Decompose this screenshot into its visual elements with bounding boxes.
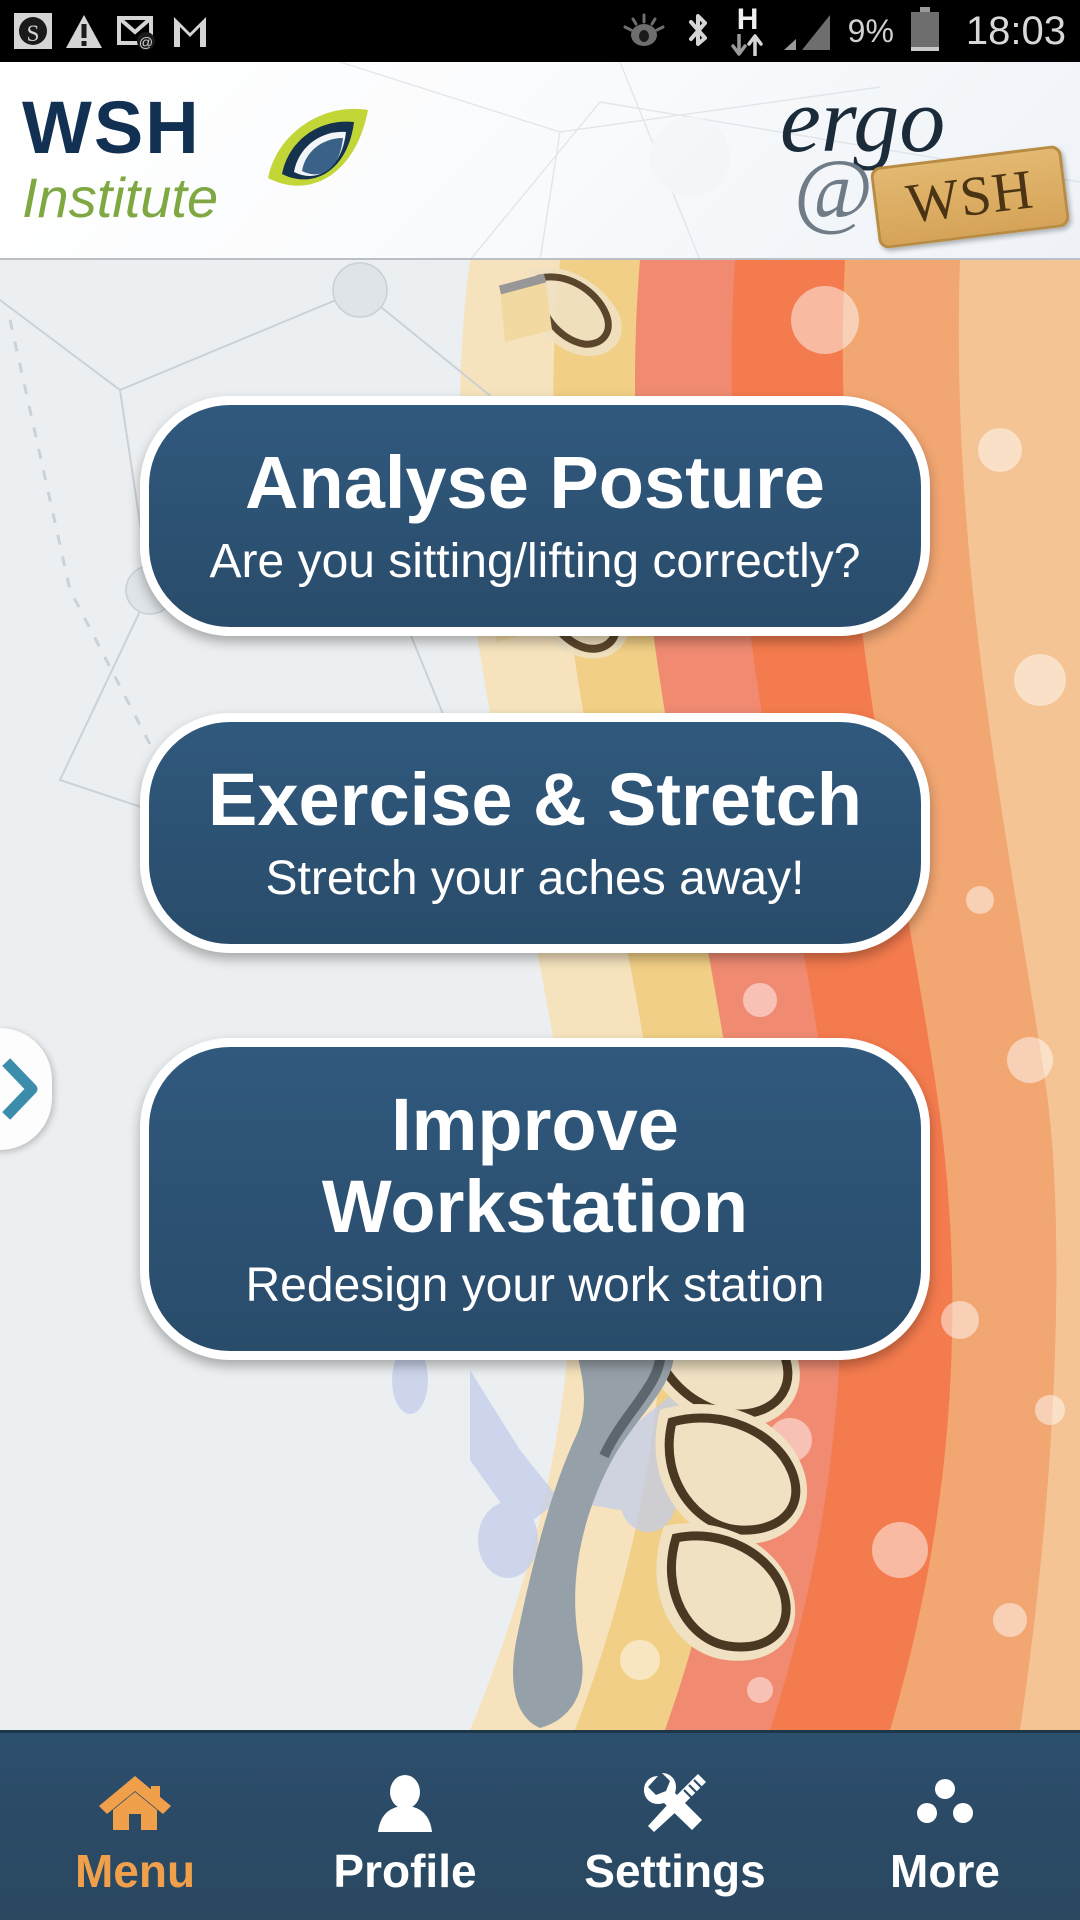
nav-label-profile: Profile xyxy=(333,1848,476,1894)
exercise-stretch-button[interactable]: Exercise & Stretch Stretch your aches aw… xyxy=(140,713,930,953)
exercise-stretch-title: Exercise & Stretch xyxy=(208,759,862,841)
three-dots-icon xyxy=(913,1772,977,1834)
tools-icon xyxy=(640,1772,710,1834)
email-at-icon: @ xyxy=(116,11,158,51)
status-bar-clock: 18:03 xyxy=(966,9,1066,54)
svg-text:@: @ xyxy=(139,34,153,50)
analyse-posture-title: Analyse Posture xyxy=(245,442,825,524)
chevron-right-icon xyxy=(0,1058,42,1120)
nav-label-more: More xyxy=(890,1848,1000,1894)
wsh-tag-text: WSH xyxy=(903,157,1037,236)
svg-text:S: S xyxy=(27,21,40,46)
network-type-label: H xyxy=(737,6,759,34)
app-screen: S @ xyxy=(0,0,1080,1920)
analyse-posture-subtitle: Are you sitting/lifting correctly? xyxy=(210,534,861,590)
hspa-data-icon: H xyxy=(728,6,768,56)
eye-smart-stay-icon xyxy=(620,11,668,51)
ergo-at-wsh-logo: ergo @ WSH xyxy=(756,72,1066,257)
battery-icon xyxy=(908,7,942,55)
nav-label-settings: Settings xyxy=(584,1848,765,1894)
nav-item-menu[interactable]: Menu xyxy=(0,1733,270,1920)
bluetooth-icon xyxy=(682,10,714,52)
nav-item-settings[interactable]: Settings xyxy=(540,1733,810,1920)
home-icon xyxy=(97,1772,173,1834)
person-icon xyxy=(374,1772,436,1834)
gmail-icon xyxy=(170,11,210,51)
improve-workstation-button[interactable]: Improve Workstation Redesign your work s… xyxy=(140,1038,930,1360)
data-arrows-icon xyxy=(728,34,768,56)
improve-workstation-title: Improve Workstation xyxy=(255,1084,815,1248)
improve-workstation-subtitle: Redesign your work station xyxy=(246,1258,825,1314)
warning-triangle-icon xyxy=(64,11,104,51)
at-symbol-icon: @ xyxy=(794,146,873,232)
nav-label-menu: Menu xyxy=(75,1848,195,1894)
status-bar: S @ xyxy=(0,0,1080,62)
wsh-shield-icon xyxy=(250,96,382,228)
battery-percent-label: 9% xyxy=(848,13,894,50)
bottom-navigation-bar: Menu Profile xyxy=(0,1730,1080,1920)
status-bar-system-icons: H 9% 18:03 xyxy=(620,6,1066,56)
status-bar-notification-icons: S @ xyxy=(14,11,210,51)
exercise-stretch-subtitle: Stretch your aches away! xyxy=(266,851,805,907)
nav-item-more[interactable]: More xyxy=(810,1733,1080,1920)
skype-icon: S xyxy=(14,11,52,51)
analyse-posture-button[interactable]: Analyse Posture Are you sitting/lifting … xyxy=(140,396,930,636)
signal-bars-icon xyxy=(782,9,834,53)
app-header: WSH Institute ergo @ WSH xyxy=(0,62,1080,260)
nav-item-profile[interactable]: Profile xyxy=(270,1733,540,1920)
